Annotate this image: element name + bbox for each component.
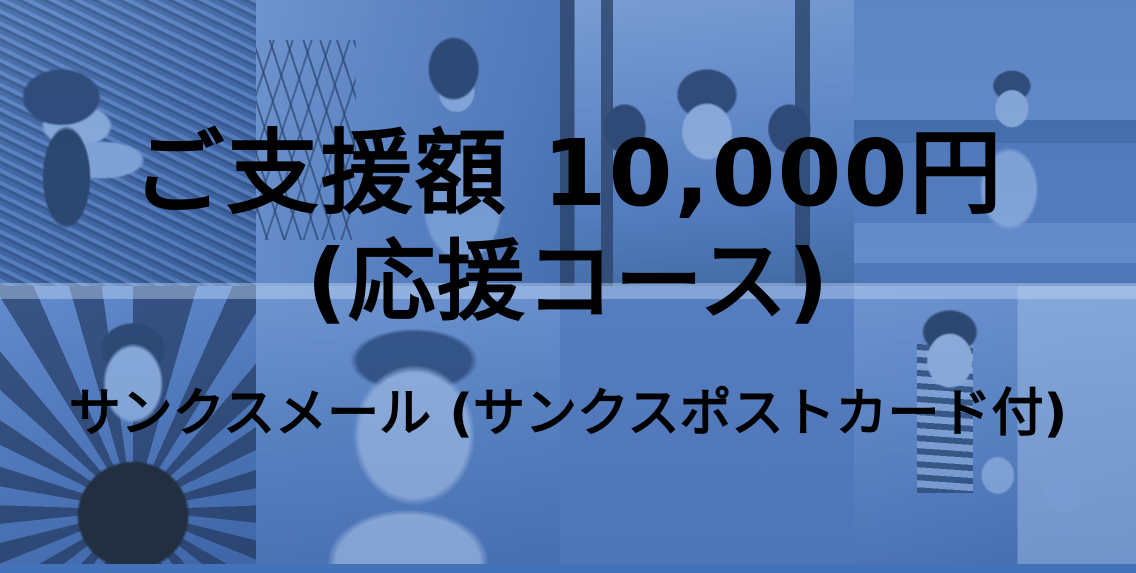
photo-image (560, 0, 854, 286)
photo-image (0, 0, 256, 286)
photo-image (256, 0, 560, 286)
photo-girl-arms-outstretched (0, 0, 256, 286)
photo-image (854, 0, 1136, 286)
photo-masked-youth-indoors (256, 0, 560, 286)
photo-man-on-park-ledge (854, 0, 1136, 286)
photo-student-by-mosque (560, 286, 854, 573)
photo-image (0, 286, 256, 573)
photo-image (854, 286, 1136, 573)
support-tier-banner: ご支援額 10,000円 (応援コース) サンクスメール (サンクスポストカード… (0, 0, 1136, 573)
photo-collage (0, 0, 1136, 573)
photo-woman-with-children (854, 286, 1136, 573)
bottom-accent-bar (0, 564, 1136, 573)
photo-youth-in-chair (0, 286, 256, 573)
photo-woman-bandana-closeup (256, 286, 560, 573)
photo-image (256, 286, 560, 573)
photo-image (560, 286, 854, 573)
photo-woman-at-shrine (560, 0, 854, 286)
